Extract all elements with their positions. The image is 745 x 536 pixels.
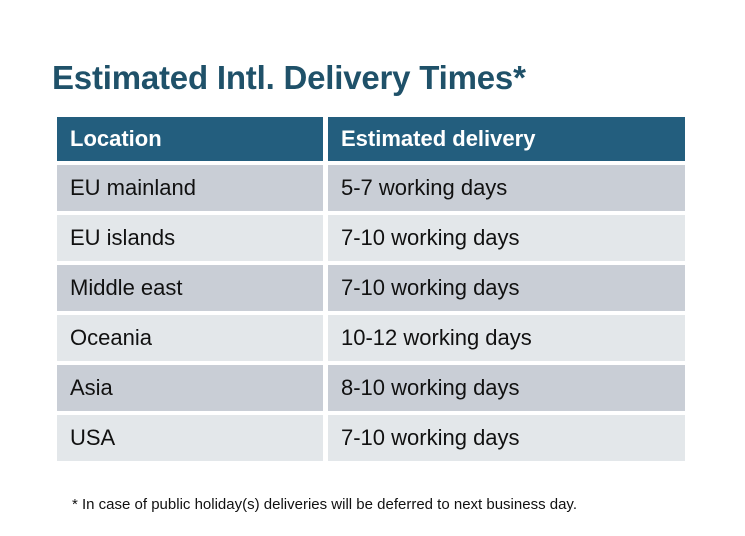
cell-location: EU mainland: [57, 165, 323, 211]
delivery-times-table: Location Estimated delivery EU mainland …: [52, 113, 690, 465]
cell-location: Middle east: [57, 265, 323, 311]
cell-delivery: 8-10 working days: [328, 365, 685, 411]
table-row: EU islands 7-10 working days: [57, 215, 685, 261]
table-header: Location Estimated delivery: [57, 117, 685, 161]
cell-delivery: 7-10 working days: [328, 265, 685, 311]
column-header-location: Location: [57, 117, 323, 161]
table-row: Asia 8-10 working days: [57, 365, 685, 411]
table-row: EU mainland 5-7 working days: [57, 165, 685, 211]
cell-delivery: 7-10 working days: [328, 215, 685, 261]
column-header-delivery: Estimated delivery: [328, 117, 685, 161]
cell-location: Oceania: [57, 315, 323, 361]
cell-location: Asia: [57, 365, 323, 411]
cell-delivery: 5-7 working days: [328, 165, 685, 211]
table-row: Oceania 10-12 working days: [57, 315, 685, 361]
table-body: EU mainland 5-7 working days EU islands …: [57, 165, 685, 461]
cell-delivery: 10-12 working days: [328, 315, 685, 361]
table-row: USA 7-10 working days: [57, 415, 685, 461]
table-header-row: Location Estimated delivery: [57, 117, 685, 161]
table-row: Middle east 7-10 working days: [57, 265, 685, 311]
delivery-times-page: Estimated Intl. Delivery Times* Location…: [0, 0, 745, 536]
page-title: Estimated Intl. Delivery Times*: [52, 59, 526, 97]
footnote: * In case of public holiday(s) deliverie…: [72, 496, 577, 513]
cell-location: EU islands: [57, 215, 323, 261]
cell-location: USA: [57, 415, 323, 461]
cell-delivery: 7-10 working days: [328, 415, 685, 461]
